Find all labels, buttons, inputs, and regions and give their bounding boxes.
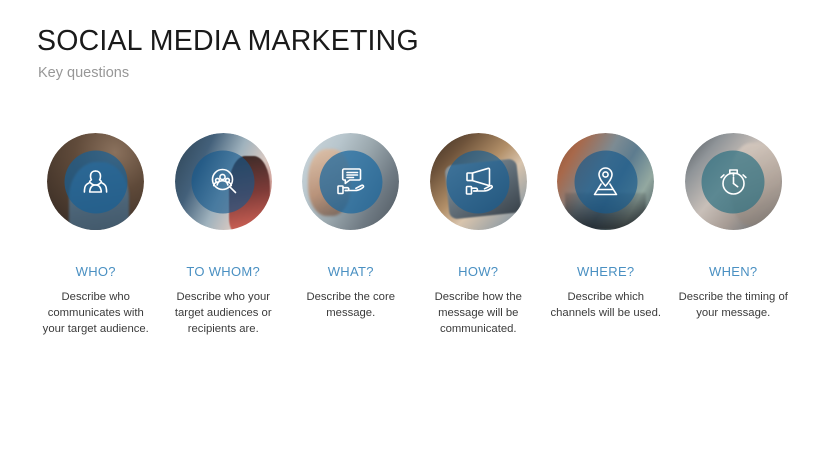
slide: SOCIAL MEDIA MARKETING Key questions — [0, 0, 829, 466]
icon-overlay-disc — [64, 150, 127, 213]
card-description: Describe who your target audiences or re… — [164, 289, 282, 337]
icon-overlay-disc — [702, 150, 765, 213]
card-description: Describe the core message. — [292, 289, 410, 321]
card-heading: TO WHOM? — [186, 264, 260, 280]
photo-circle-what — [302, 133, 399, 230]
card-what[interactable]: WHAT? Describe the core message. — [287, 133, 415, 321]
hand-megaphone-icon — [458, 162, 498, 202]
photo-circle-when — [685, 133, 782, 230]
card-description: Describe which channels will be used. — [547, 289, 665, 321]
card-how[interactable]: HOW? Describe how the message will be co… — [415, 133, 543, 337]
photo-circle-how — [430, 133, 527, 230]
hand-message-bubble-icon — [331, 162, 371, 202]
card-when[interactable]: WHEN? Describe the timing of your messag… — [670, 133, 798, 321]
card-description: Describe the timing of your message. — [674, 289, 792, 321]
cards-row: WHO? Describe who communicates with your… — [32, 133, 797, 337]
icon-overlay-disc — [574, 150, 637, 213]
card-description: Describe how the message will be communi… — [419, 289, 537, 337]
map-location-pin-icon — [586, 162, 626, 202]
card-who[interactable]: WHO? Describe who communicates with your… — [32, 133, 160, 337]
page-subtitle: Key questions — [38, 65, 777, 82]
card-heading: WHO? — [76, 264, 116, 280]
card-where[interactable]: WHERE? Describe which channels will be u… — [542, 133, 670, 321]
card-heading: WHAT? — [328, 264, 374, 280]
icon-overlay-disc — [447, 150, 510, 213]
icon-overlay-disc — [192, 150, 255, 213]
card-heading: WHERE? — [577, 264, 634, 280]
card-description: Describe who communicates with your targ… — [37, 289, 155, 337]
people-group-icon — [76, 162, 116, 202]
page-title: SOCIAL MEDIA MARKETING — [37, 26, 777, 58]
icon-overlay-disc — [319, 150, 382, 213]
slide-header: SOCIAL MEDIA MARKETING Key questions — [37, 26, 777, 82]
photo-circle-to-whom — [175, 133, 272, 230]
audience-search-magnifier-icon — [203, 162, 243, 202]
photo-circle-who — [47, 133, 144, 230]
photo-circle-where — [557, 133, 654, 230]
card-heading: HOW? — [458, 264, 498, 280]
card-to-whom[interactable]: TO WHOM? Describe who your target audien… — [160, 133, 288, 337]
card-heading: WHEN? — [709, 264, 757, 280]
stopwatch-icon — [713, 162, 753, 202]
